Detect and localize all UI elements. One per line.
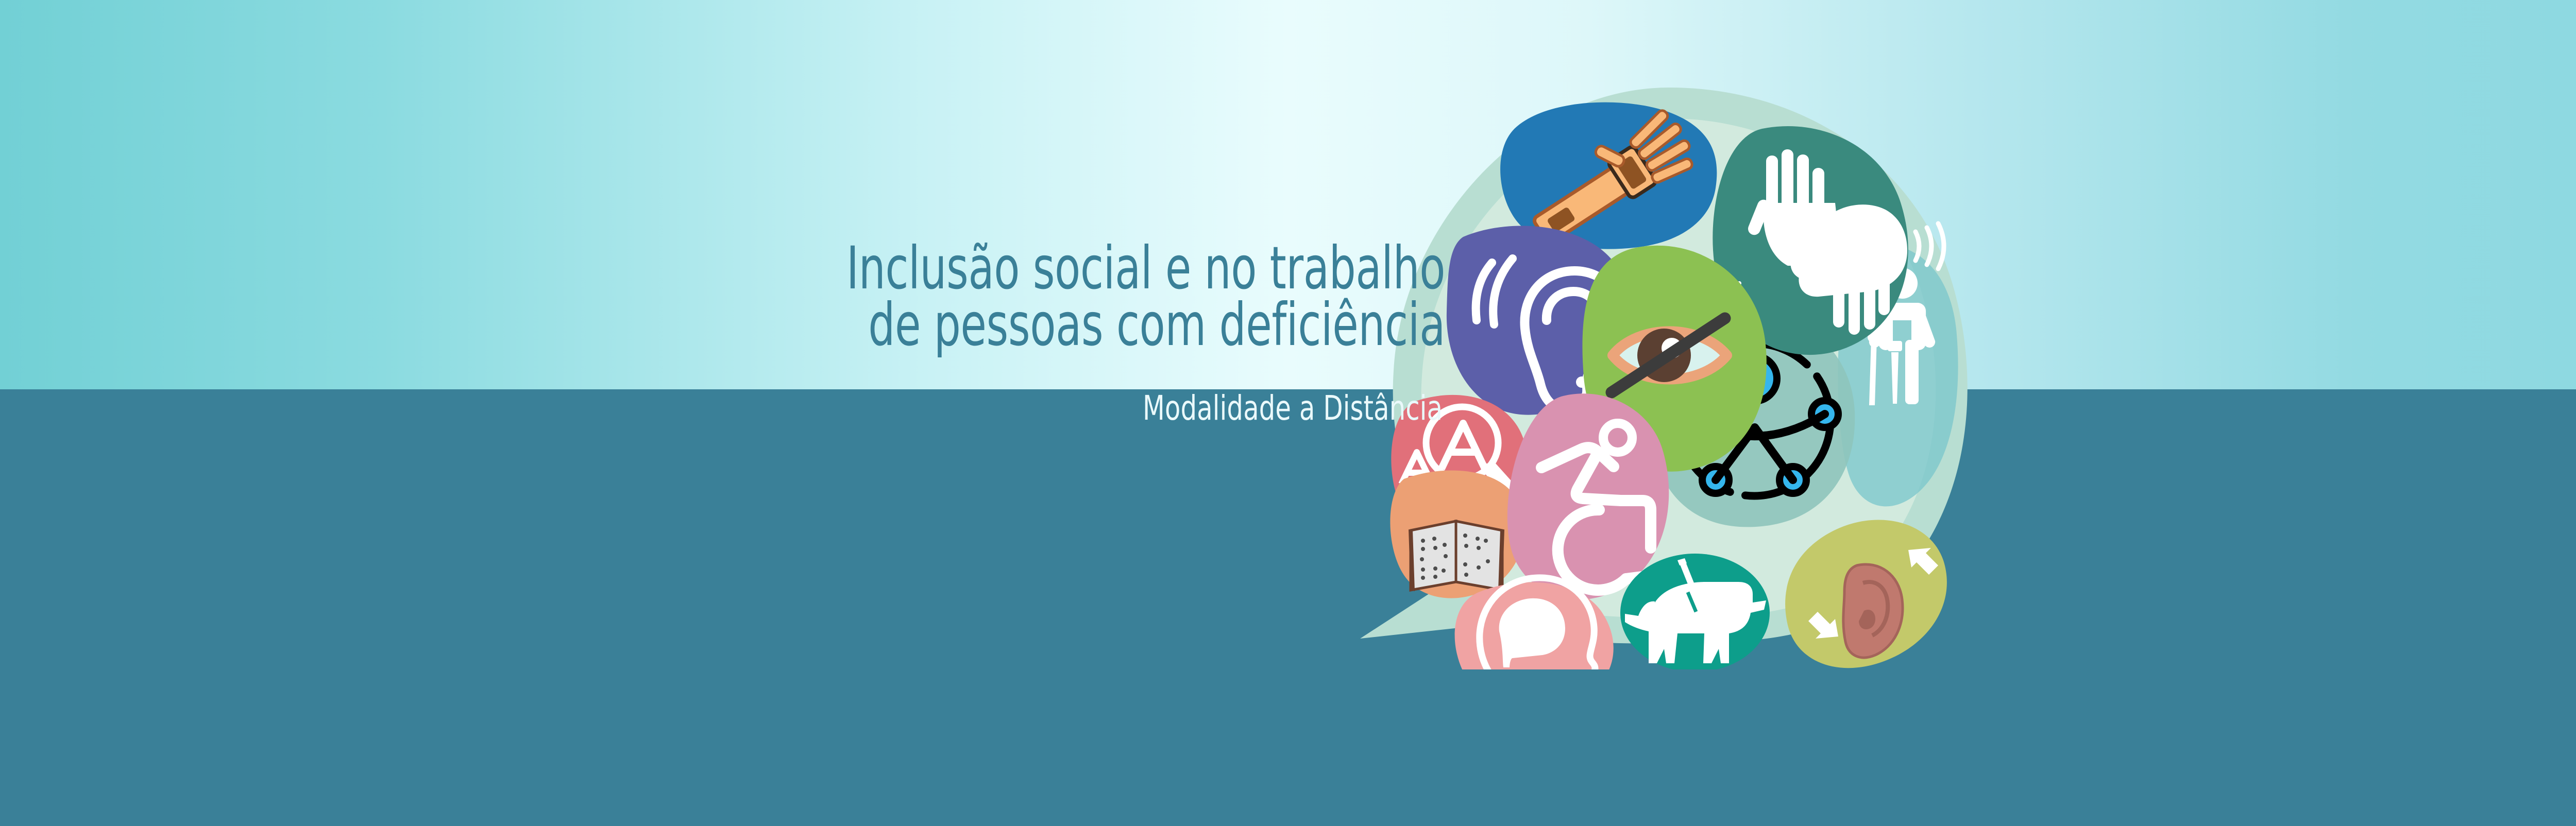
- banner-subtitle-block: Modalidade a Distância: [0, 391, 1443, 425]
- background-bottom-band: [0, 389, 2576, 826]
- guide-dog-icon: [1620, 554, 1770, 669]
- page-title: Inclusão social e no trabalho de pessoas…: [289, 240, 1445, 353]
- accessibility-course-banner: Inclusão social e no trabalho de pessoas…: [0, 0, 2576, 826]
- banner-title-block: Inclusão social e no trabalho de pessoas…: [0, 240, 1445, 353]
- accessibility-icon-cluster-speech-bubble: [1309, 77, 2040, 669]
- subtitle-text: Modalidade a Distância: [1143, 391, 1443, 425]
